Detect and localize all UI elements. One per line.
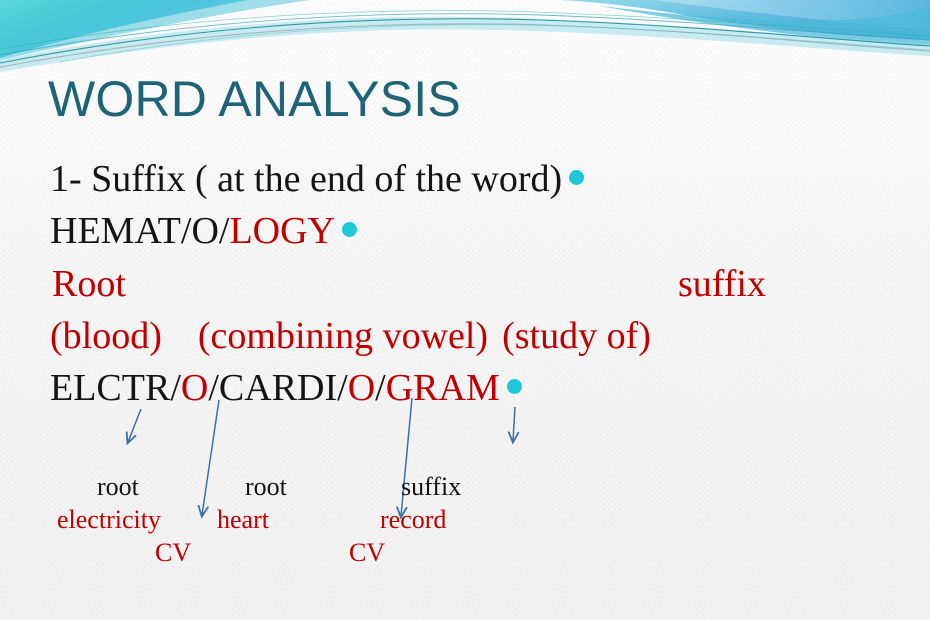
body-line-electrocardiogram: ELCTR/O/CARDI/O/GRAM — [50, 369, 522, 407]
cyan-bullet-icon — [342, 222, 357, 237]
meaning-study-of: (study of) — [502, 315, 651, 357]
ecg-segment-2: O — [181, 367, 208, 409]
body-line-suffix-definition: 1- Suffix ( at the end of the word) — [50, 160, 584, 198]
annotation-root-1: root — [97, 474, 139, 500]
cyan-bullet-icon — [507, 379, 522, 394]
page-title-text: WORD ANALYSIS — [48, 71, 461, 127]
body-line-hematology: HEMAT/O/LOGY — [50, 212, 357, 250]
annotation-root-2: root — [245, 474, 287, 500]
page-title: WORD ANALYSIS — [48, 74, 461, 124]
meaning-blood: (blood) — [50, 315, 162, 357]
cyan-bullet-icon — [569, 170, 584, 185]
ecg-segment-3: /CARDI/ — [208, 367, 347, 409]
label-suffix: suffix — [678, 265, 766, 303]
label-root-text: Root — [52, 263, 126, 305]
label-root: Root — [52, 265, 126, 303]
arrow-to-heart — [202, 400, 219, 515]
body-line-meanings: (blood)(combining vowel)(study of) — [50, 317, 651, 355]
ecg-segment-5: / — [375, 367, 386, 409]
suffix-definition-text: 1- Suffix ( at the end of the word) — [50, 158, 562, 200]
hematology-suffix-text: LOGY — [229, 210, 335, 252]
annotation-cv-1: CV — [155, 540, 191, 566]
hematology-root-text: HEMAT/O/ — [50, 210, 229, 252]
header-swoosh-decoration — [0, 0, 930, 78]
label-suffix-text: suffix — [678, 263, 766, 305]
annotation-record: record — [380, 507, 446, 533]
ecg-segment-6: GRAM — [386, 367, 500, 409]
arrow-to-electricity — [128, 409, 141, 442]
ecg-segment-1: ELCTR/ — [50, 367, 181, 409]
slide-canvas: WORD ANALYSIS 1- Suffix ( at the end of … — [0, 0, 930, 620]
arrow-to-gram — [513, 407, 515, 441]
meaning-combining-vowel: (combining vowel) — [198, 315, 488, 357]
annotation-heart: heart — [217, 507, 269, 533]
ecg-segment-4: O — [348, 367, 375, 409]
annotation-suffix: suffix — [401, 474, 461, 500]
annotation-electricity: electricity — [57, 507, 161, 533]
annotation-cv-2: CV — [349, 540, 385, 566]
